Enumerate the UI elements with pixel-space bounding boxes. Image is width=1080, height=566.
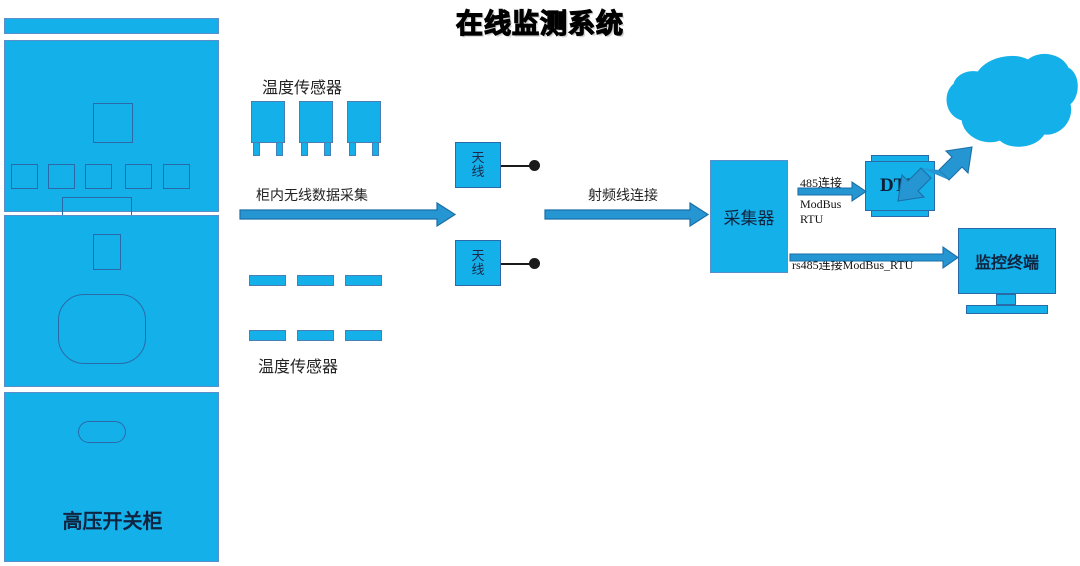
monitor-base [966, 305, 1048, 314]
antenna-label-line2: 线 [471, 164, 484, 179]
collector-node: 采集器 [710, 160, 788, 273]
flow-label-rs485-full: rs485连接ModBus_RTU [792, 258, 913, 273]
diagram-canvas: 在线监测系统 高压开关柜 温度传感器 温度传感器 [0, 0, 1080, 566]
cloud-node-label: 云传输 [955, 100, 1065, 124]
cabinet-meter-square [93, 103, 133, 143]
cabinet-label: 高压开关柜 [5, 505, 220, 534]
antenna-label-line2: 线 [471, 262, 484, 277]
arrow-rf [545, 203, 708, 226]
sensor-leg-left [349, 143, 356, 156]
sensor-body [251, 101, 285, 143]
cabinet-section-top [4, 40, 219, 212]
temperature-sensor-unit [347, 101, 381, 153]
cabinet-button-3 [85, 164, 112, 189]
temperature-sensor-unit [299, 101, 333, 153]
cabinet-button-2 [48, 164, 75, 189]
cabinet-bottom-pill [78, 421, 126, 443]
flow-label-rf: 射频线连接 [588, 185, 658, 205]
sensor-leg-right [372, 143, 379, 156]
cabinet-button-5 [163, 164, 190, 189]
temperature-sensor-bar [345, 330, 382, 341]
temperature-sensor-bar [249, 330, 286, 341]
dtu-label: DTU [865, 161, 935, 211]
temperature-sensor-label-top: 温度传感器 [262, 74, 402, 98]
temperature-sensor-bar [297, 275, 334, 286]
cabinet-button-4 [125, 164, 152, 189]
temperature-sensor-bar [297, 330, 334, 341]
sensor-leg-left [301, 143, 308, 156]
flow-label-485-line2: ModBus [800, 197, 841, 212]
antenna-terminal-dot-top [529, 160, 540, 171]
sensor-leg-left [253, 143, 260, 156]
antenna-terminal-dot-bottom [529, 258, 540, 269]
antenna-lead-top [501, 165, 531, 167]
cabinet-middle-square [93, 234, 121, 270]
sensor-body [347, 101, 381, 143]
cabinet-top-cap [4, 18, 219, 34]
temperature-sensor-bar [345, 275, 382, 286]
temperature-sensor-bar [249, 275, 286, 286]
cabinet-middle-rounded-panel [58, 294, 146, 364]
flow-label-485-line3: RTU [800, 212, 823, 227]
arrow-wireless [240, 203, 455, 226]
sensor-leg-right [276, 143, 283, 156]
temperature-sensor-unit [251, 101, 285, 153]
dtu-node: DTU [865, 155, 935, 217]
cabinet-section-bottom: 高压开关柜 [4, 392, 219, 562]
cabinet-button-1 [11, 164, 38, 189]
antenna-box-bottom: 天线 [455, 240, 501, 286]
sensor-body [299, 101, 333, 143]
sensor-leg-right [324, 143, 331, 156]
monitor-neck [996, 294, 1016, 305]
flow-label-wireless: 柜内无线数据采集 [256, 185, 368, 205]
flow-label-485-line1: 485连接 [800, 176, 842, 191]
cabinet-section-middle [4, 215, 219, 387]
antenna-lead-bottom [501, 263, 531, 265]
antenna-box-top: 天线 [455, 142, 501, 188]
monitoring-terminal-node: 监控终端 [958, 228, 1056, 294]
temperature-sensor-label-bottom: 温度传感器 [258, 353, 408, 377]
